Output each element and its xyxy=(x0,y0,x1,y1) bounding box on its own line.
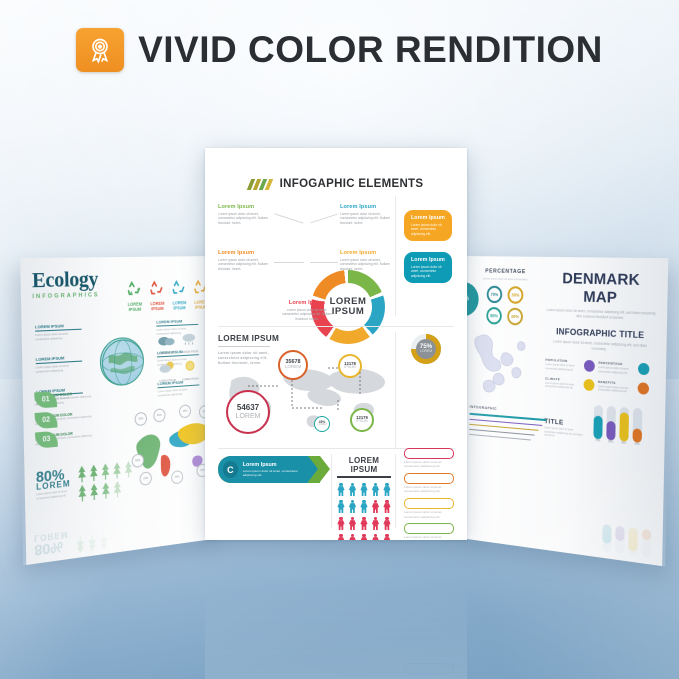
globe-label[interactable]: LOREM IPSUM Lorem ipsum dolor sit amet c… xyxy=(36,354,83,374)
leaf-step[interactable]: 02 LOREM IPSUM DOLOR Lorem ipsum dolor s… xyxy=(35,410,94,427)
stat-item-body: Lorem ipsum dolor sit amet consectetur a… xyxy=(545,363,580,373)
stat-item[interactable]: POPULATION Lorem ipsum dolor sit amet co… xyxy=(545,358,594,374)
person-icon xyxy=(337,500,345,514)
ecology-title-block: Ecology INFOGRAPHICS xyxy=(32,270,100,300)
people-pictogram: LOREM IPSUM xyxy=(337,456,391,540)
leaf-step-number: 03 xyxy=(42,436,50,444)
wheel-label-heading: Lorem Ipsum xyxy=(218,204,272,210)
map-marker[interactable]: 80% xyxy=(132,453,145,468)
diagonal-stripes-icon xyxy=(249,179,272,190)
weather-item[interactable]: LOREM IPSUM xyxy=(158,359,177,383)
map-pin[interactable]: 54637 LOREM xyxy=(226,390,270,434)
person-icon xyxy=(349,534,357,541)
pill-item[interactable] xyxy=(404,523,454,534)
map-pin-value: 54637 xyxy=(237,404,259,412)
denmark-content: PERCENTAGE Lorem ipsum dolor sit amet co… xyxy=(457,256,668,566)
callout-body: Lorem ipsum dolor sit amet, consectetur … xyxy=(411,223,445,237)
people-row xyxy=(337,534,391,541)
weather-item-list: LOREM IPSUM LOREM IPSUM LOREM IPSUM xyxy=(157,330,210,383)
person-icon xyxy=(372,500,380,514)
stat-item-body: Lorem ipsum dolor sit amet consectetur a… xyxy=(545,381,580,391)
leaf-step-list: 01 LOREM IPSUM DOLOR Lorem ipsum dolor s… xyxy=(34,391,93,447)
abc-heading: Lorem Ipsum xyxy=(243,462,308,468)
header: VIVID COLOR RENDITION xyxy=(0,28,679,72)
callout-heading: Lorem Ipsum xyxy=(411,257,445,263)
leaf-step[interactable]: 03 LOREM IPSUM DOLOR Lorem ipsum dolor s… xyxy=(35,430,94,447)
ecology-subtitle: INFOGRAPHICS xyxy=(32,292,99,300)
map-marker[interactable]: 35% xyxy=(171,470,183,485)
person-icon xyxy=(360,517,368,531)
wheel-label[interactable]: Lorem Ipsum Lorem ipsum dolor sit amet, … xyxy=(280,300,334,322)
stat-item-dot xyxy=(583,360,594,372)
mini-donut[interactable]: 50% xyxy=(486,307,502,325)
weather-item[interactable]: LOREM IPSUM xyxy=(180,331,198,354)
pill-body: Lorem ipsum dolor sit amet, consectetur … xyxy=(404,460,454,469)
mini-donut[interactable]: 70% xyxy=(487,286,503,304)
tree-icon xyxy=(101,463,110,481)
recycle-badge-line2: IPSUM xyxy=(151,305,163,311)
chart-body: Lorem ipsum dolor sit amet, consectetur … xyxy=(544,426,587,441)
map-marker[interactable]: 60% xyxy=(153,408,165,422)
person-icon xyxy=(337,534,345,541)
person-icon xyxy=(372,534,380,541)
map-pin-label: LOREM xyxy=(285,365,301,370)
wheel-label-body: Lorem ipsum dolor sit amet, consectetur … xyxy=(218,212,272,227)
leaf-step-number: 01 xyxy=(42,396,50,404)
center-title-row: INFOGAPHIC ELEMENTS xyxy=(218,178,454,190)
tube-chart: TITLE Lorem ipsum dolor sit amet, consec… xyxy=(544,401,654,447)
stat-item-body: Lorem ipsum dolor sit amet consectetur a… xyxy=(598,385,635,395)
callout-body: Lorem ipsum dolor sit amet, consectetur … xyxy=(411,265,445,279)
colored-world-map: 30% 60% 45% 50% 80% 20% 35% 70% xyxy=(129,407,215,495)
map-pin-label: IPSUM xyxy=(356,420,367,424)
percent-donut-label: LOREM xyxy=(420,350,432,353)
stat-item-body: Lorem ipsum dolor sit amet consectetur a… xyxy=(598,366,635,376)
center-poster-reflection: C B A xyxy=(205,540,467,679)
ecology-content: Ecology INFOGRAPHICS LOREMIPSUM xyxy=(20,256,222,565)
pill-body: Lorem ipsum dolor sit amet, consectetur … xyxy=(404,485,454,494)
mini-donut[interactable]: 20% xyxy=(507,308,523,326)
recycle-badge-list: LOREMIPSUM LOREMIPSUM LORE xyxy=(126,278,208,312)
map-pin[interactable]: 45% LOREM xyxy=(314,416,330,432)
person-icon xyxy=(360,500,368,514)
recycle-badge[interactable]: LOREMIPSUM xyxy=(171,279,187,311)
infographic-elements-poster[interactable]: INFOGAPHIC ELEMENTS LOREM IPSUM Lorem Ip… xyxy=(205,148,467,540)
person-icon xyxy=(383,534,391,541)
denmark-map-poster[interactable]: PERCENTAGE Lorem ipsum dolor sit amet co… xyxy=(457,256,668,566)
person-icon xyxy=(349,517,357,531)
weather-item[interactable]: LOREM IPSUM xyxy=(181,358,199,381)
line-list xyxy=(469,413,546,442)
map-pin-label: LOREM xyxy=(317,424,326,427)
recycle-badge[interactable]: LOREMIPSUM xyxy=(126,280,143,313)
pill-item[interactable] xyxy=(404,448,454,459)
map-pin[interactable]: 12179 IPSUM xyxy=(350,408,374,432)
section-body: Lorem ipsum dolor sit amet, consectetur … xyxy=(546,339,655,356)
ecology-title: Ecology xyxy=(32,270,100,292)
weather-item-label: LOREM IPSUM xyxy=(181,350,199,354)
person-icon xyxy=(383,517,391,531)
wheel-label[interactable]: Lorem Ipsum Lorem ipsum dolor sit amet, … xyxy=(218,204,272,226)
tree-icon xyxy=(90,483,99,501)
mini-donut[interactable]: 30% xyxy=(507,287,523,305)
denmark-body: Lorem ipsum dolor sit amet, consectetur … xyxy=(546,307,655,322)
map-pin-label: LOREM xyxy=(236,413,261,420)
person-icon xyxy=(337,517,345,531)
recycle-badge-line2: IPSUM xyxy=(173,305,185,310)
leaf-step[interactable]: 01 LOREM IPSUM DOLOR Lorem ipsum dolor s… xyxy=(34,391,93,407)
callout-button[interactable]: Lorem Ipsum Lorem ipsum dolor sit amet, … xyxy=(404,252,452,283)
tree-icon xyxy=(113,462,122,480)
wheel-label[interactable]: Lorem Ipsum Lorem ipsum dolor sit amet, … xyxy=(218,250,272,272)
pill-item[interactable] xyxy=(404,473,454,484)
tree-icon xyxy=(78,484,87,502)
percentage-body: Lorem ipsum dolor sit amet consectetur. xyxy=(472,276,540,282)
wheel-label-body: Lorem ipsum dolor sit amet, consectetur … xyxy=(340,212,394,227)
globe-label-body: Lorem ipsum dolor sit amet consectetur a… xyxy=(36,363,83,374)
map-marker[interactable]: 45% xyxy=(179,404,191,418)
person-icon xyxy=(360,534,368,541)
line-row xyxy=(469,434,531,441)
percentage-block: PERCENTAGE Lorem ipsum dolor sit amet co… xyxy=(469,268,540,445)
wheel-label-heading: Lorem Ipsum xyxy=(218,250,272,256)
denmark-title: DENMARK MAP xyxy=(547,269,657,308)
wheel-label[interactable]: Lorem Ipsum Lorem ipsum dolor sit amet, … xyxy=(340,204,394,226)
people-row xyxy=(337,517,391,531)
page-title: VIVID COLOR RENDITION xyxy=(138,29,603,71)
stat-item-dot xyxy=(638,382,650,395)
person-icon xyxy=(372,517,380,531)
wheel-center-line2: IPSUM xyxy=(332,307,365,317)
tube-label: 85% xyxy=(619,441,628,445)
person-icon xyxy=(372,483,380,497)
wheel-label-heading: Lorem Ipsum xyxy=(340,250,394,256)
wheel-label-body: Lorem ipsum dolor sit amet, consectetur … xyxy=(280,308,334,323)
map-pin[interactable]: 35678 LOREM xyxy=(278,350,308,380)
abc-letter: C xyxy=(223,461,238,478)
weather-item-label: LOREM IPSUM xyxy=(158,351,176,355)
pill-item[interactable] xyxy=(404,498,454,509)
wheel-diagram: LOREM IPSUM Lorem Ipsum Lorem ipsum dolo… xyxy=(218,204,394,322)
wheel-label-body: Lorem ipsum dolor sit amet, consectetur … xyxy=(340,258,394,273)
promo-banner: VIVID COLOR RENDITION Ecology INFOGRAPHI… xyxy=(0,0,679,679)
pill-body: Lorem ipsum dolor sit amet, consectetur … xyxy=(404,535,454,540)
person-icon xyxy=(383,500,391,514)
map-marker[interactable]: 30% xyxy=(135,412,147,426)
stat-item-dot xyxy=(638,363,650,376)
stat-item[interactable]: BENEFITS Lorem ipsum dolor sit amet cons… xyxy=(598,379,649,396)
tree-icon xyxy=(77,465,86,483)
person-icon xyxy=(337,483,345,497)
tube-label: 40% xyxy=(632,442,641,446)
recycle-badge-line2: IPSUM xyxy=(129,306,142,312)
center-title: INFOGAPHIC ELEMENTS xyxy=(280,178,424,190)
denmark-map-shape xyxy=(470,328,539,403)
wheel-label-heading: Lorem Ipsum xyxy=(280,300,334,306)
ecology-infographics-poster[interactable]: Ecology INFOGRAPHICS LOREMIPSUM xyxy=(20,256,222,565)
tree-icon xyxy=(113,481,122,499)
center-content: INFOGAPHIC ELEMENTS LOREM IPSUM Lorem Ip… xyxy=(205,148,467,540)
recycle-badge[interactable]: LOREMIPSUM xyxy=(149,279,165,312)
globe-label-body: Lorem ipsum dolor sit amet consectetur a… xyxy=(35,332,82,343)
stat-item-list: POPULATION Lorem ipsum dolor sit amet co… xyxy=(545,358,655,397)
map-pin[interactable]: 12178 IPSUM xyxy=(338,354,362,378)
person-icon xyxy=(383,483,391,497)
people-heading: LOREM IPSUM xyxy=(337,456,391,474)
award-ribbon-icon xyxy=(76,28,124,72)
tube-label: 70% xyxy=(593,439,602,443)
abc-body: Lorem ipsum dolor sit amet, consectetur … xyxy=(243,469,308,478)
abc-banner[interactable]: C Lorem IpsumLorem ipsum dolor sit amet,… xyxy=(218,456,308,483)
person-icon xyxy=(349,500,357,514)
map-pin-label: IPSUM xyxy=(344,366,355,370)
weather-item[interactable]: LOREM IPSUM xyxy=(157,332,176,355)
people-row xyxy=(337,500,391,514)
callout-button[interactable]: Lorem Ipsum Lorem ipsum dolor sit amet, … xyxy=(404,210,452,241)
map-marker[interactable]: 20% xyxy=(139,471,151,486)
wheel-label-body: Lorem ipsum dolor sit amet, consectetur … xyxy=(218,258,272,273)
wheel-label-heading: Lorem Ipsum xyxy=(340,204,394,210)
pill-list: Lorem ipsum dolor sit amet, consectetur … xyxy=(404,448,454,540)
leaf-step-number: 02 xyxy=(42,416,50,424)
denmark-text-block: DENMARK MAP Lorem ipsum dolor sit amet, … xyxy=(544,269,657,456)
globe-label-body: Lorem ipsum dolor sit amet consectetur a… xyxy=(158,387,200,398)
stat-item[interactable]: CLIMATE Lorem ipsum dolor sit amet conse… xyxy=(545,376,594,392)
percentage-heading: PERCENTAGE xyxy=(472,268,540,275)
tree-icon xyxy=(89,464,98,482)
poster-scene: Ecology INFOGRAPHICS LOREMIPSUM xyxy=(0,0,679,679)
stat-item[interactable]: PERCENTAGE Lorem ipsum dolor sit amet co… xyxy=(598,361,650,377)
person-icon xyxy=(349,483,357,497)
percent-donut[interactable]: 75%LOREM xyxy=(411,334,441,364)
tree-stat: 80% LOREM Lorem ipsum dolor sit amet con… xyxy=(36,467,73,501)
people-row xyxy=(337,483,391,497)
wheel-label[interactable]: Lorem Ipsum Lorem ipsum dolor sit amet, … xyxy=(340,250,394,272)
globe-label[interactable]: LOREM IPSUM Lorem ipsum dolor sit amet c… xyxy=(35,323,82,343)
person-icon xyxy=(360,483,368,497)
pill-body: Lorem ipsum dolor sit amet, consectetur … xyxy=(404,510,454,519)
globe-icon xyxy=(99,337,144,387)
tube-label: 55% xyxy=(606,440,615,444)
tree-icon xyxy=(101,482,110,500)
callout-heading: Lorem Ipsum xyxy=(411,215,445,221)
stat-item-dot xyxy=(583,378,594,390)
